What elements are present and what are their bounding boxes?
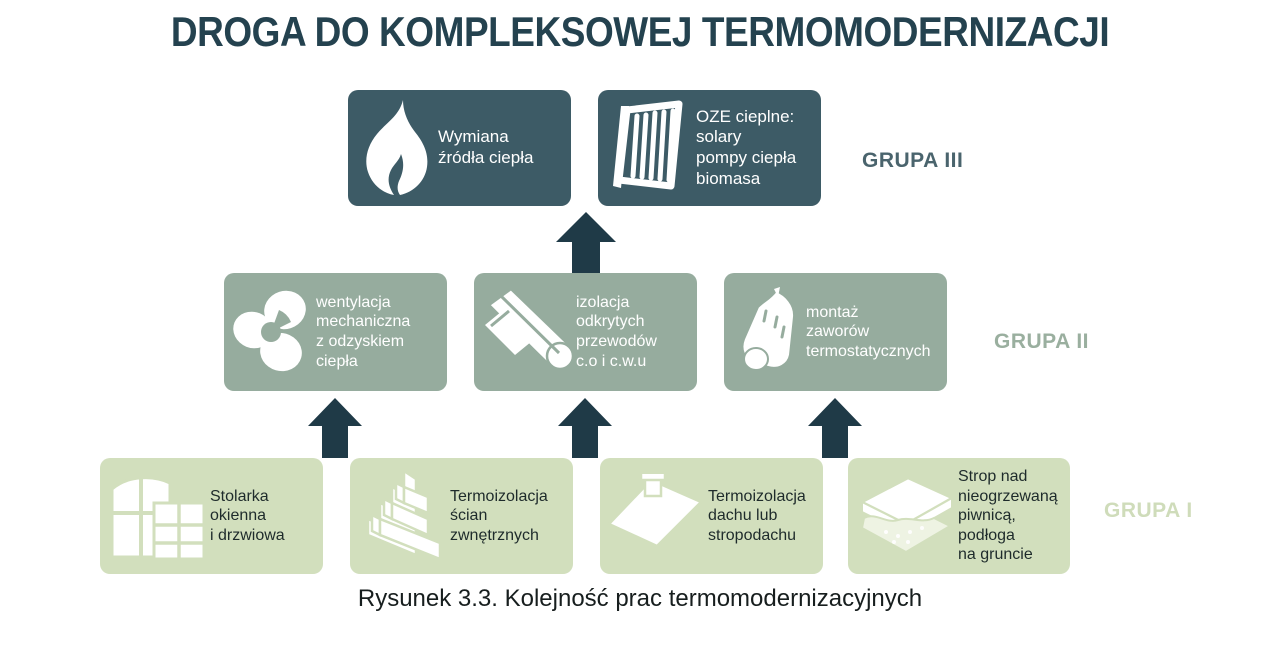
card-label: Termoizolacja ścian zwnętrznych bbox=[450, 487, 565, 546]
brick-wall-icon bbox=[356, 465, 450, 567]
card-stolarka-okienna[interactable]: Stolarka okienna i drzwiowa bbox=[100, 458, 323, 574]
group-label-grupa-i: GRUPA I bbox=[1104, 499, 1193, 523]
diagram-canvas: DROGA DO KOMPLEKSOWEJ TERMOMODERNIZACJI … bbox=[0, 0, 1280, 660]
card-wymiana-zrodla-ciepla[interactable]: Wymiana źródła ciepła bbox=[348, 90, 571, 206]
roof-icon bbox=[604, 466, 708, 566]
card-izolacja-przewodow[interactable]: izolacja odkrytych przewodów c.o i c.w.u bbox=[474, 273, 697, 391]
card-label: OZE cieplne: solary pompy ciepła biomasa bbox=[696, 107, 811, 190]
thermostatic-valve-icon bbox=[730, 282, 806, 382]
card-label: Wymiana źródła ciepła bbox=[438, 127, 561, 168]
group-label-grupa-ii: GRUPA II bbox=[994, 330, 1089, 354]
arrow-group2-to-group3 bbox=[556, 212, 616, 274]
card-strop-nad-piwnica[interactable]: Strop nad nieogrzewaną piwnicą, podłoga … bbox=[848, 458, 1070, 574]
solar-collector-icon bbox=[604, 96, 696, 200]
pipe-insulation-icon bbox=[480, 282, 576, 382]
card-label: wentylacja mechaniczna z odzyskiem ciepł… bbox=[316, 293, 437, 371]
card-oze-cieplne[interactable]: OZE cieplne: solary pompy ciepła biomasa bbox=[598, 90, 821, 206]
card-termoizolacja-scian[interactable]: Termoizolacja ścian zwnętrznych bbox=[350, 458, 573, 574]
card-label: Termoizolacja dachu lub stropodachu bbox=[708, 487, 815, 546]
card-label: Strop nad nieogrzewaną piwnicą, podłoga … bbox=[958, 467, 1062, 565]
card-zawory-termostatyczne[interactable]: montaż zaworów termostatycznych bbox=[724, 273, 947, 391]
card-wentylacja-mechaniczna[interactable]: wentylacja mechaniczna z odzyskiem ciepł… bbox=[224, 273, 447, 391]
flame-icon bbox=[354, 96, 438, 200]
card-termoizolacja-dachu[interactable]: Termoizolacja dachu lub stropodachu bbox=[600, 458, 823, 574]
figure-caption: Rysunek 3.3. Kolejność prac termomoderni… bbox=[0, 585, 1280, 613]
card-label: Stolarka okienna i drzwiowa bbox=[210, 487, 315, 546]
window-door-icon bbox=[106, 465, 210, 567]
card-label: montaż zaworów termostatycznych bbox=[806, 303, 939, 362]
arrow-group1-to-group2-left bbox=[308, 398, 362, 458]
arrow-group1-to-group2-middle bbox=[558, 398, 612, 458]
group-label-grupa-iii: GRUPA III bbox=[862, 149, 963, 173]
floor-slab-icon bbox=[854, 465, 958, 567]
page-title: DROGA DO KOMPLEKSOWEJ TERMOMODERNIZACJI bbox=[77, 8, 1203, 56]
arrow-group1-to-group2-right bbox=[808, 398, 862, 458]
card-label: izolacja odkrytych przewodów c.o i c.w.u bbox=[576, 293, 687, 371]
fan-icon bbox=[230, 282, 316, 382]
